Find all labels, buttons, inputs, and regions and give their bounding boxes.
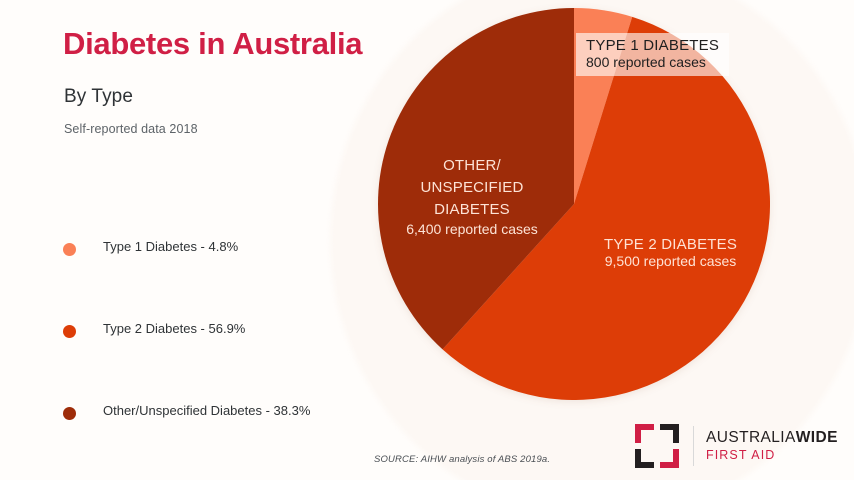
infographic-canvas: Diabetes in Australia By Type Self-repor… — [0, 0, 854, 480]
callout-type-1-title: TYPE 1 DIABETES — [586, 37, 719, 54]
callout-other-title-line-1: OTHER/ — [392, 155, 552, 177]
legend-item[interactable]: Type 1 Diabetes - 4.8% — [63, 238, 393, 320]
callout-other-title-line-3: DIABETES — [392, 199, 552, 221]
chart-legend: Type 1 Diabetes - 4.8% Type 2 Diabetes -… — [63, 238, 393, 480]
legend-item[interactable]: Type 2 Diabetes - 56.9% — [63, 320, 393, 402]
logo-divider — [693, 426, 694, 466]
legend-swatch-other-icon — [63, 407, 76, 420]
callout-type-1-cases: 800 reported cases — [586, 54, 719, 70]
logo-name-part-2: WIDE — [796, 429, 838, 446]
data-note: Self-reported data 2018 — [64, 122, 198, 136]
source-note: SOURCE: AIHW analysis of ABS 2019a. — [374, 454, 550, 465]
callout-type-2-cases: 9,500 reported cases — [604, 253, 737, 269]
callout-type-2-title: TYPE 2 DIABETES — [604, 236, 737, 253]
page-title: Diabetes in Australia — [63, 26, 362, 62]
brand-logo[interactable]: AUSTRALIAWIDE FIRST AID — [635, 424, 838, 468]
callout-other-title-line-2: UNSPECIFIED — [392, 177, 552, 199]
legend-swatch-type-2-icon — [63, 325, 76, 338]
logo-name-part-1: AUSTRALIA — [706, 429, 796, 446]
legend-label: Other/Unspecified Diabetes - 38.3% — [103, 402, 310, 420]
callout-other-cases: 6,400 reported cases — [392, 221, 552, 237]
legend-label: Type 2 Diabetes - 56.9% — [103, 320, 245, 338]
callout-type-1: TYPE 1 DIABETES 800 reported cases — [576, 33, 729, 76]
page-subtitle: By Type — [64, 86, 133, 108]
legend-item[interactable]: Other/Unspecified Diabetes - 38.3% — [63, 402, 393, 480]
logo-wordmark: AUSTRALIAWIDE FIRST AID — [706, 429, 838, 463]
logo-tagline: FIRST AID — [706, 447, 838, 463]
legend-swatch-type-1-icon — [63, 243, 76, 256]
legend-label: Type 1 Diabetes - 4.8% — [103, 238, 238, 256]
callout-type-2: TYPE 2 DIABETES 9,500 reported cases — [604, 236, 737, 269]
callout-other: OTHER/ UNSPECIFIED DIABETES 6,400 report… — [392, 155, 552, 237]
first-aid-cross-icon — [635, 424, 679, 468]
